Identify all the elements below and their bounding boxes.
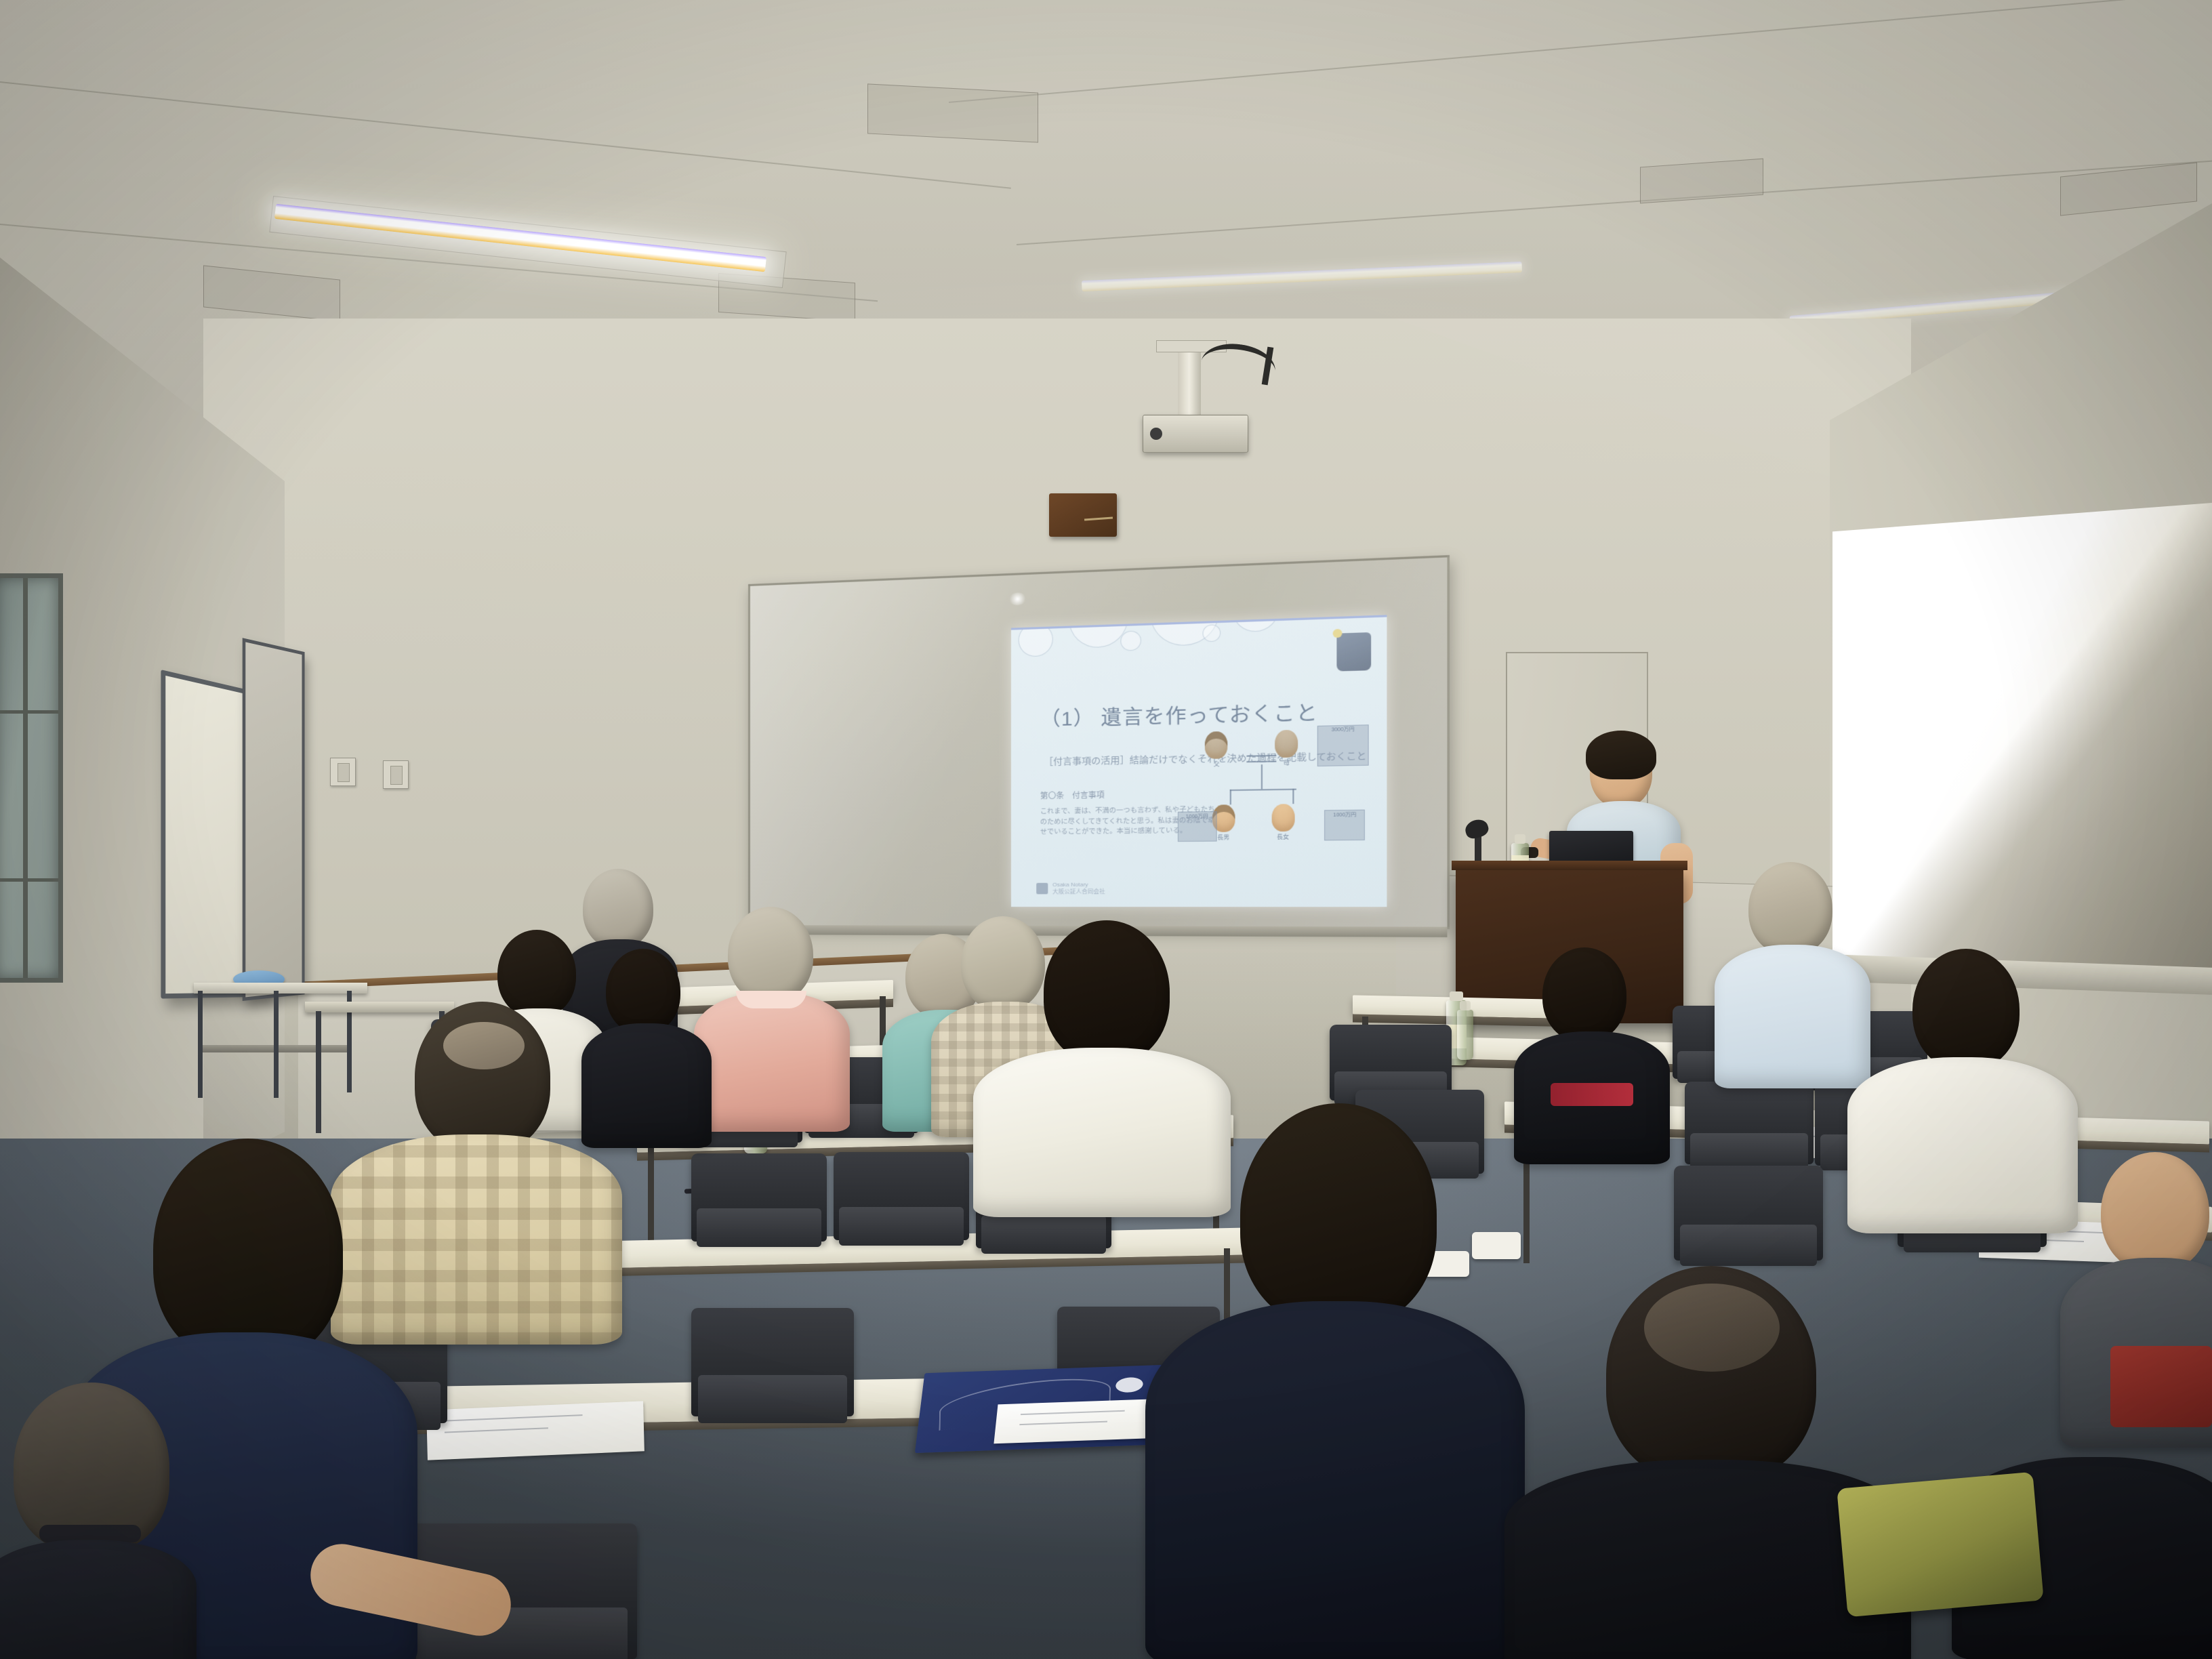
bottle: [1457, 1010, 1473, 1060]
audience-member: [1847, 949, 2078, 1220]
audience-torso: [0, 1540, 197, 1659]
slide-logo: Osaka Notary 大阪公証人合同会社: [1036, 882, 1105, 896]
audience-collar: [736, 991, 806, 1008]
ceiling-vent-tile: [203, 265, 340, 321]
audience-torso: [1847, 1057, 2078, 1233]
light-switch-plate[interactable]: [383, 760, 409, 789]
cart-top-shelf: [194, 983, 367, 994]
chair[interactable]: [691, 1308, 854, 1416]
ceiling-vent-tile: [1640, 159, 1763, 204]
audience-member-foreground: [1145, 1103, 1525, 1659]
red-chair-accent: [2110, 1346, 2212, 1427]
chair[interactable]: [1674, 1166, 1823, 1261]
family-node-daughter-avatar: [1271, 804, 1294, 832]
family-node-daughter-label: 長女: [1271, 833, 1294, 841]
podium-top: [1452, 861, 1687, 870]
audience-head: [1748, 862, 1832, 956]
audience-head: [1542, 947, 1626, 1042]
projector: [1143, 415, 1248, 453]
whiteboard-secondary: [243, 638, 305, 1001]
light-housing: [269, 196, 786, 288]
ceiling-vent-tile: [867, 83, 1038, 142]
audience-head: [1240, 1103, 1437, 1327]
window-left: [0, 573, 63, 983]
slide-family-tree: 父 母 3000万円: [1195, 722, 1371, 878]
chair[interactable]: [1685, 1082, 1814, 1164]
slide-character-icon: [1336, 632, 1371, 672]
audience-torso: [1145, 1301, 1525, 1659]
chair[interactable]: [691, 1153, 827, 1242]
ceiling-vent-tile: [2060, 162, 2197, 216]
audience-member: [694, 907, 850, 1124]
projector-mount: [1178, 352, 1201, 417]
slide-logo-mark: [1036, 883, 1048, 895]
cart-side-table-leg: [316, 1011, 321, 1133]
audience-bald-patch: [1644, 1284, 1780, 1372]
audience-head: [1912, 949, 2020, 1071]
slide-logo-line1: Osaka Notary: [1052, 882, 1105, 889]
family-node-mother-avatar: [1275, 730, 1298, 758]
family-node-father-avatar: [1205, 731, 1227, 759]
paper-on-tote[interactable]: [994, 1399, 1166, 1444]
projected-slide: （1） 遺言を作っておくこと ［付言事項の活用］結論だけでなくそれを決めた過程を…: [1011, 615, 1387, 907]
tshirt-logo: [1551, 1083, 1633, 1106]
slide-logo-line2: 大阪公証人合同会社: [1052, 888, 1105, 896]
window-right: [1832, 503, 2212, 981]
presenter-hair: [1586, 731, 1656, 779]
paper[interactable]: [426, 1401, 644, 1460]
chair[interactable]: [834, 1152, 969, 1240]
audience-head: [1044, 920, 1170, 1064]
slide-body-heading: 第〇条 付言事項: [1040, 790, 1105, 802]
tote-bag-emblem: [1115, 1376, 1144, 1392]
family-amount-daughter: 1000万円: [1324, 809, 1365, 840]
audience-head: [2101, 1152, 2209, 1273]
ceiling-light-tube: [1082, 262, 1522, 291]
wall-speaker: [1049, 493, 1117, 537]
light-switch-plate[interactable]: [330, 758, 356, 786]
family-node-father-label: 父: [1205, 760, 1227, 768]
curtain-shadow: [1832, 503, 2212, 981]
audience-head: [153, 1139, 343, 1362]
family-amount-son: 1000万円: [1178, 811, 1217, 842]
audience-bald-patch: [443, 1022, 525, 1069]
ceiling-light-tube: [274, 204, 766, 272]
bag-on-floor: [1837, 1472, 2043, 1618]
family-node-mother-label: 母: [1275, 758, 1298, 766]
projection-screen: （1） 遺言を作っておくこと ［付言事項の活用］結論だけでなくそれを決めた過程を…: [748, 555, 1450, 929]
audience-head: [728, 907, 813, 1003]
family-amount-house: 3000万円: [1317, 725, 1369, 766]
slide-decoration-bubbles: [1011, 615, 1387, 702]
audience-member: [1514, 947, 1670, 1158]
audience-member-foreground: [0, 1382, 190, 1659]
ceiling-vent-tile: [718, 273, 855, 322]
seminar-room-photo: （1） 遺言を作っておくこと ［付言事項の活用］結論だけでなくそれを決めた過程を…: [0, 0, 2212, 1659]
projector-lens: [1150, 428, 1162, 440]
audience-torso: [694, 992, 850, 1132]
